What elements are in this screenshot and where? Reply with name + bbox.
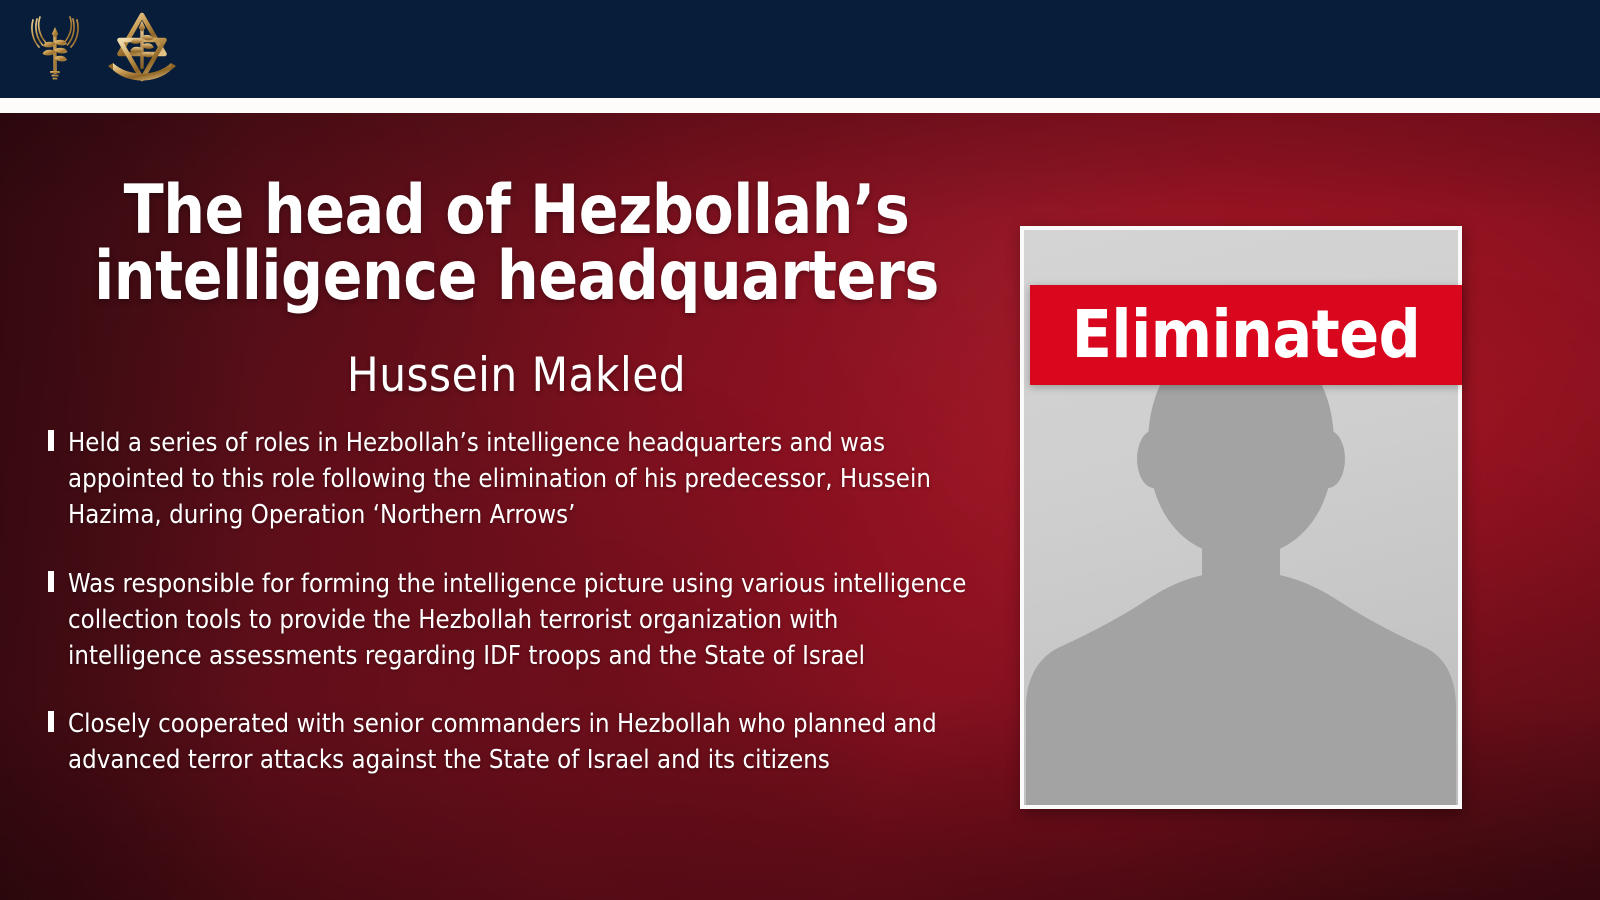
list-item: Held a series of roles in Hezbollah’s in… xyxy=(46,425,976,534)
slide-root: The head of Hezbollah’s intelligence hea… xyxy=(0,0,1600,900)
bullet-marker-icon xyxy=(48,571,54,592)
header-divider xyxy=(0,98,1600,113)
list-item-text: Was responsible for forming the intellig… xyxy=(68,569,966,671)
bullet-marker-icon xyxy=(48,430,54,451)
text-column: The head of Hezbollah’s intelligence hea… xyxy=(0,113,1000,900)
header-bar xyxy=(0,0,1600,98)
bullet-list: Held a series of roles in Hezbollah’s in… xyxy=(46,425,976,779)
list-item: Was responsible for forming the intellig… xyxy=(46,566,976,675)
status-badge-label: Eliminated xyxy=(1072,302,1420,368)
status-badge: Eliminated xyxy=(1030,285,1462,385)
israel-defense-forces-emblem xyxy=(102,7,182,91)
subject-name: Hussein Makled xyxy=(44,348,989,403)
bullet-marker-icon xyxy=(48,711,54,732)
list-item-text: Held a series of roles in Hezbollah’s in… xyxy=(68,428,931,530)
page-title: The head of Hezbollah’s intelligence hea… xyxy=(63,178,970,310)
list-item-text: Closely cooperated with senior commander… xyxy=(68,709,937,775)
anonymous-person-silhouette-icon xyxy=(1026,335,1456,805)
idf-spokesperson-unit-emblem xyxy=(26,10,84,88)
list-item: Closely cooperated with senior commander… xyxy=(46,706,976,778)
subject-photo-card: Eliminated xyxy=(1020,226,1462,809)
main-content-area: The head of Hezbollah’s intelligence hea… xyxy=(0,113,1600,900)
